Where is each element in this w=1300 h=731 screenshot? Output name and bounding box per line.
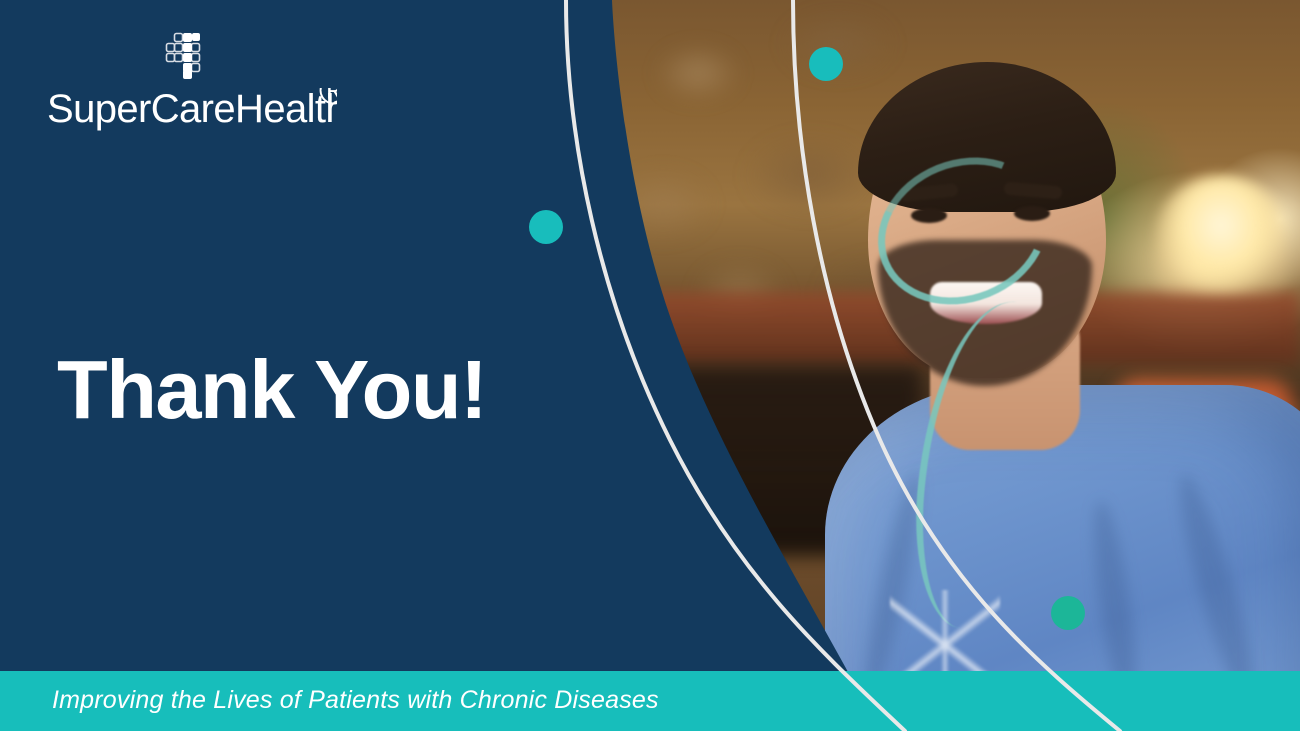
brand-logo[interactable]: SuperCareHealth ® [47,32,347,132]
footer-tagline: Improving the Lives of Patients with Chr… [52,686,659,715]
thank-you-slide: SuperCareHealth ® Thank You! Improving t… [0,0,1300,731]
supercarehealth-cross-grid-logo [165,32,209,80]
logo-trademark-symbol: ® [319,88,337,113]
patient-photo [600,0,1300,731]
page-title: Thank You! [57,348,486,431]
logo-wordmark-text: SuperCareHealth [47,88,337,131]
teal-dot-bottom [1051,596,1085,630]
teal-dot-middle [529,210,563,244]
photo-person [600,0,1300,731]
teal-dot-top [809,47,843,81]
